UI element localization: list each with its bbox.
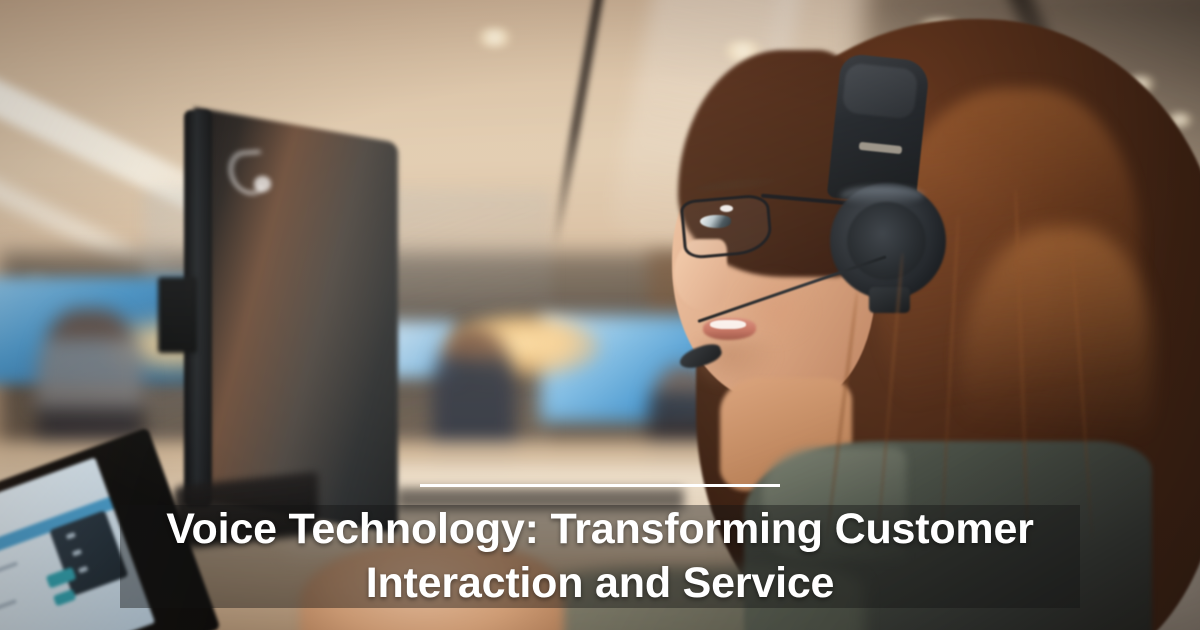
teeth: [710, 320, 746, 329]
headset-earcup-inner: [847, 202, 926, 281]
title-overlay-band: Voice Technology: Transforming Customer …: [120, 505, 1080, 608]
title-divider-rule: [420, 484, 780, 487]
page-title: Voice Technology: Transforming Customer …: [120, 503, 1080, 610]
hero-banner: Voice Technology: Transforming Customer …: [0, 0, 1200, 630]
headset-headband-pad: [841, 62, 918, 120]
glasses-highlight: [720, 205, 733, 212]
headset-boom-joint: [869, 287, 910, 313]
